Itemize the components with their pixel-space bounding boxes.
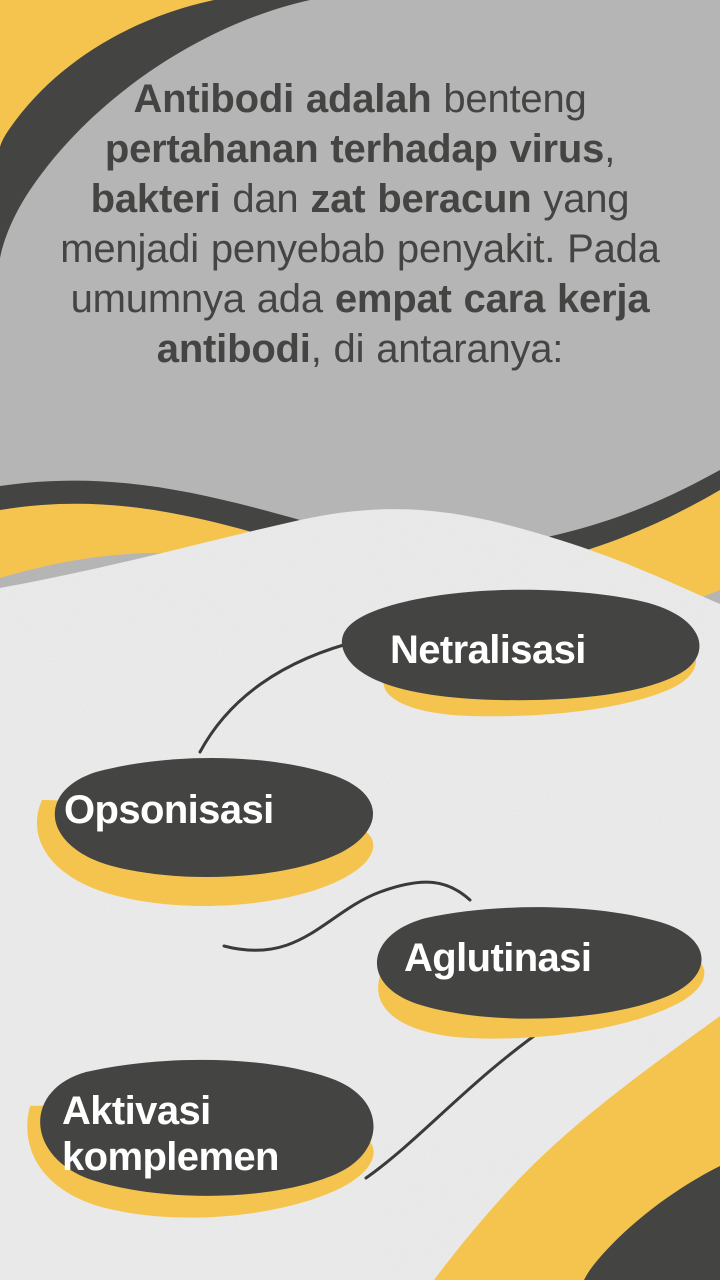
- infographic-poster: Antibodi adalah benteng pertahanan terha…: [0, 0, 720, 1280]
- headline-seg-1: Antibodi adalah: [133, 77, 443, 121]
- connector-opsonisasi-netralisasi: [200, 640, 362, 752]
- headline-seg-4: ,: [604, 127, 615, 171]
- headline-seg-3: pertahanan terhadap virus: [105, 127, 604, 171]
- page-title: Antibodi adalah benteng pertahanan terha…: [60, 74, 660, 374]
- node-aglutinasi[interactable]: [364, 902, 708, 1022]
- node-aktivasi-komplemen[interactable]: [26, 1062, 378, 1196]
- headline-seg-6: dan: [220, 177, 310, 221]
- connector-aktivasi-aglutinasi: [366, 1026, 548, 1178]
- headline-block: Antibodi adalah benteng pertahanan terha…: [60, 74, 660, 374]
- node-netralisasi[interactable]: [340, 592, 700, 712]
- node-opsonisasi[interactable]: [28, 752, 380, 872]
- headline-seg-10: , di antaranya:: [311, 327, 564, 371]
- headline-seg-2: benteng: [443, 77, 586, 121]
- headline-seg-5: bakteri: [91, 177, 221, 221]
- headline-seg-7: zat beracun: [310, 177, 531, 221]
